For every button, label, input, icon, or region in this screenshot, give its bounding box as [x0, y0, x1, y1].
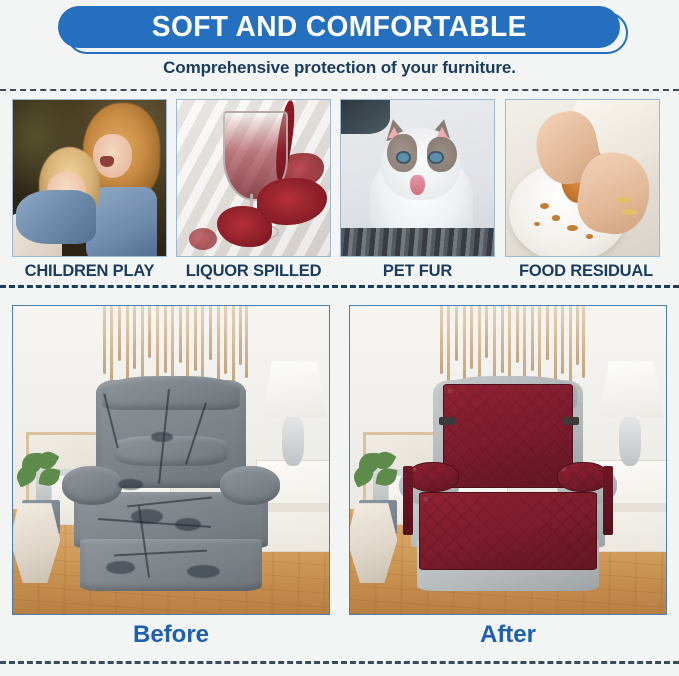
before-room-photo	[13, 306, 329, 614]
feature-thumbnail-food-residual	[505, 99, 660, 257]
cover-arm-right	[557, 462, 610, 492]
table-lamp	[263, 361, 326, 416]
after-caption: After	[349, 621, 667, 649]
infographic-page: SOFT AND COMFORTABLE Comprehensive prote…	[0, 0, 679, 676]
recliner-after	[407, 380, 609, 596]
feature-label-children-play: CHILDREN PLAY	[12, 262, 167, 281]
feature-thumbnail-pet-fur	[340, 99, 495, 257]
wine-spill-photo	[177, 100, 330, 256]
feature-label-food-residual: FOOD RESIDUAL	[505, 262, 667, 281]
feature-label-pet-fur: PET FUR	[340, 262, 495, 281]
feature-thumbnail-row	[0, 99, 679, 257]
cover-arm-left	[407, 462, 460, 492]
header-banner: SOFT AND COMFORTABLE	[0, 4, 679, 54]
cover-backrest	[443, 384, 572, 487]
page-subtitle: Comprehensive protection of your furnitu…	[0, 58, 679, 78]
cat-photo	[341, 100, 494, 256]
feature-label-liquor-spilled: LIQUOR SPILLED	[176, 262, 331, 281]
before-panel	[12, 305, 330, 615]
before-after-comparison	[0, 305, 679, 617]
banner-fill-shape: SOFT AND COMFORTABLE	[58, 6, 620, 48]
table-lamp	[600, 361, 663, 416]
after-room-photo	[350, 306, 666, 614]
before-caption: Before	[12, 621, 330, 649]
recliner-before	[70, 380, 272, 596]
feature-thumbnail-children-play	[12, 99, 167, 257]
feature-thumbnail-liquor-spilled	[176, 99, 331, 257]
messy-food-plate-photo	[506, 100, 659, 256]
page-title: SOFT AND COMFORTABLE	[152, 11, 527, 44]
children-hugging-photo	[13, 100, 166, 256]
cover-seat	[419, 492, 597, 570]
feature-label-row: CHILDREN PLAY LIQUOR SPILLED PET FUR FOO…	[0, 262, 679, 282]
after-panel	[349, 305, 667, 615]
